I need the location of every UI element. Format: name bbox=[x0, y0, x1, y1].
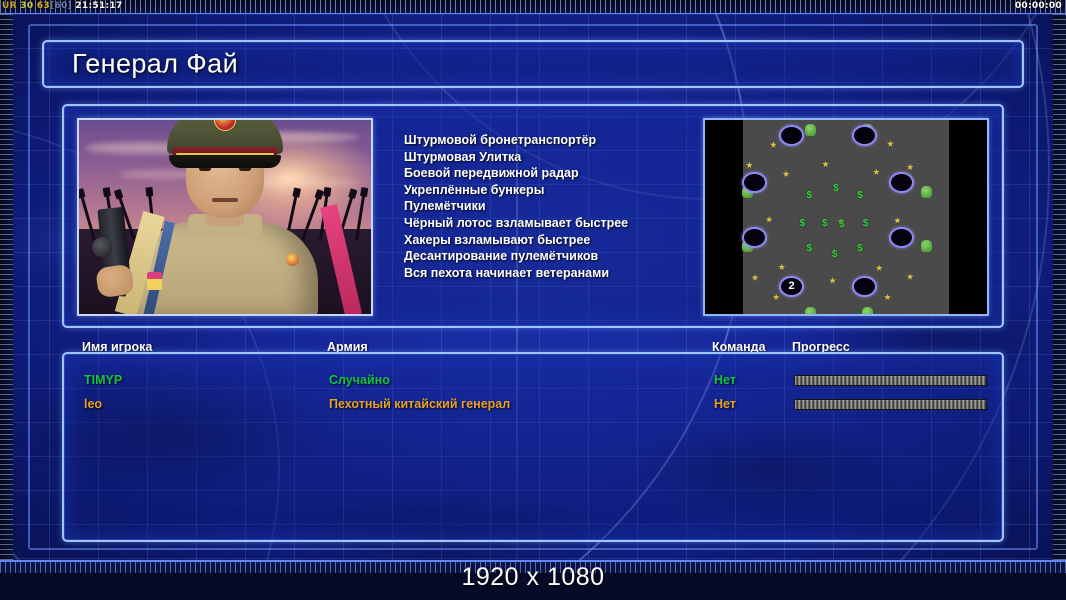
player-team: Нет bbox=[714, 397, 736, 411]
map-preview[interactable]: $$$$$$$$$$2 bbox=[703, 118, 989, 316]
map-foliage-icon bbox=[921, 186, 932, 198]
general-portrait bbox=[77, 118, 373, 316]
map-start-position[interactable] bbox=[852, 276, 877, 297]
player-name: TIMYP bbox=[84, 373, 122, 387]
ability-item: Вся пехота начинает ветеранами bbox=[404, 265, 704, 282]
ability-item: Десантирование пулемётчиков bbox=[404, 248, 704, 265]
ability-item: Штурмовая Улитка bbox=[404, 149, 704, 166]
ability-item: Пулемётчики bbox=[404, 198, 704, 215]
map-foliage-icon bbox=[862, 307, 873, 316]
ability-item: Боевой передвижной радар bbox=[404, 165, 704, 182]
table-row[interactable]: TIMYPСлучайноНет bbox=[64, 370, 1002, 394]
map-supply-icon: $ bbox=[857, 191, 863, 201]
map-supply-icon: $ bbox=[833, 184, 839, 194]
fps-value: 63 bbox=[37, 1, 50, 11]
ur-label: UR bbox=[2, 1, 17, 11]
fps-limit: [60] bbox=[50, 1, 72, 11]
ability-list: Штурмовой бронетранспортёрШтурмовая Улит… bbox=[404, 132, 704, 281]
map-supply-icon: $ bbox=[822, 219, 828, 229]
ruler-top bbox=[0, 0, 1066, 14]
player-team: Нет bbox=[714, 373, 736, 387]
map-start-position[interactable] bbox=[852, 125, 877, 146]
player-name: leo bbox=[84, 397, 102, 411]
progress-bar bbox=[794, 399, 987, 410]
map-start-position[interactable] bbox=[779, 125, 804, 146]
map-supply-icon: $ bbox=[857, 244, 863, 254]
map-start-position[interactable] bbox=[889, 172, 914, 193]
resolution-label: 1920 x 1080 bbox=[0, 563, 1066, 592]
title-panel: Генерал Фай bbox=[42, 40, 1024, 88]
game-lobby-screen: UR 30 63[60] 21:51:17 00:00:00 Генерал Ф… bbox=[0, 0, 1066, 600]
table-row[interactable]: leoПехотный китайский генералНет bbox=[64, 394, 1002, 418]
map-playable-area bbox=[743, 120, 949, 314]
ur-value: 30 bbox=[20, 1, 33, 11]
ability-item: Чёрный лотос взламывает быстрее bbox=[404, 215, 704, 232]
performance-readout: UR 30 63[60] 21:51:17 bbox=[2, 1, 123, 11]
ruler-right bbox=[1053, 14, 1066, 560]
ability-item: Укреплённые бункеры bbox=[404, 182, 704, 199]
map-supply-icon: $ bbox=[839, 220, 845, 230]
ruler-left bbox=[0, 14, 13, 560]
ability-item: Штурмовой бронетранспортёр bbox=[404, 132, 704, 149]
page-title: Генерал Фай bbox=[72, 49, 238, 80]
map-supply-icon: $ bbox=[863, 219, 869, 229]
clock-readout: 00:00:00 bbox=[1015, 1, 1062, 11]
progress-bar bbox=[794, 375, 987, 386]
general-info-panel: Штурмовой бронетранспортёрШтурмовая Улит… bbox=[62, 104, 1004, 328]
map-foliage-icon bbox=[805, 124, 816, 136]
map-supply-icon: $ bbox=[807, 244, 813, 254]
map-supply-icon: $ bbox=[807, 191, 813, 201]
map-foliage-icon bbox=[805, 307, 816, 316]
map-foliage-icon bbox=[921, 240, 932, 252]
map-supply-icon: $ bbox=[832, 250, 838, 260]
ability-item: Хакеры взламывают быстрее bbox=[404, 232, 704, 249]
player-army: Пехотный китайский генерал bbox=[329, 397, 510, 411]
map-start-position[interactable]: 2 bbox=[779, 276, 804, 297]
map-supply-icon: $ bbox=[799, 219, 805, 229]
session-time: 21:51:17 bbox=[75, 1, 122, 11]
player-army: Случайно bbox=[329, 373, 390, 387]
player-list-panel: TIMYPСлучайноНетleoПехотный китайский ге… bbox=[62, 352, 1004, 542]
